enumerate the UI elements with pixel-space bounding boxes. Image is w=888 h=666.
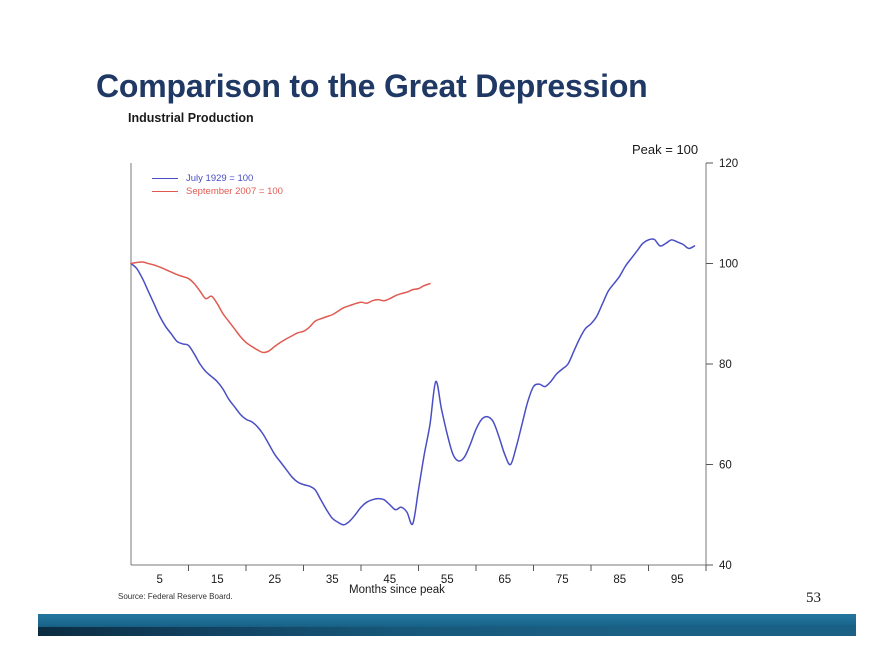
svg-text:15: 15 <box>211 574 224 586</box>
svg-text:80: 80 <box>719 359 732 371</box>
svg-text:35: 35 <box>326 574 339 586</box>
series-lines <box>131 239 695 525</box>
chart-source-note: Source: Federal Reserve Board. <box>118 592 233 601</box>
x-axis-ticks: 5152535455565758595 <box>157 565 706 586</box>
svg-text:5: 5 <box>157 574 163 586</box>
legend-label-2007: September 2007 = 100 <box>186 187 283 197</box>
footer-accent-bar <box>38 614 856 636</box>
slide-number: 53 <box>806 590 821 607</box>
legend-swatch-blue <box>152 178 178 179</box>
chart-figure: Industrial Production Peak = 100 4060801… <box>0 0 888 610</box>
presentation-slide: Comparison to the Great Depression Indus… <box>0 0 888 666</box>
svg-text:85: 85 <box>613 574 626 586</box>
svg-text:55: 55 <box>441 574 454 586</box>
chart-legend: July 1929 = 100 September 2007 = 100 <box>152 172 283 198</box>
legend-item-2007: September 2007 = 100 <box>152 185 283 198</box>
svg-text:40: 40 <box>719 560 732 572</box>
svg-text:75: 75 <box>556 574 569 586</box>
svg-text:120: 120 <box>719 158 738 170</box>
legend-item-1929: July 1929 = 100 <box>152 172 283 185</box>
axis-frame <box>131 163 706 565</box>
svg-text:65: 65 <box>498 574 511 586</box>
legend-label-1929: July 1929 = 100 <box>186 174 253 184</box>
svg-text:45: 45 <box>383 574 396 586</box>
svg-text:25: 25 <box>268 574 281 586</box>
legend-swatch-red <box>152 191 178 192</box>
svg-text:60: 60 <box>719 460 732 472</box>
svg-text:95: 95 <box>671 574 684 586</box>
y-axis-ticks: 406080100120 <box>706 158 738 572</box>
svg-text:100: 100 <box>719 259 738 271</box>
line-chart-plot: 406080100120 5152535455565758595 <box>0 0 888 610</box>
